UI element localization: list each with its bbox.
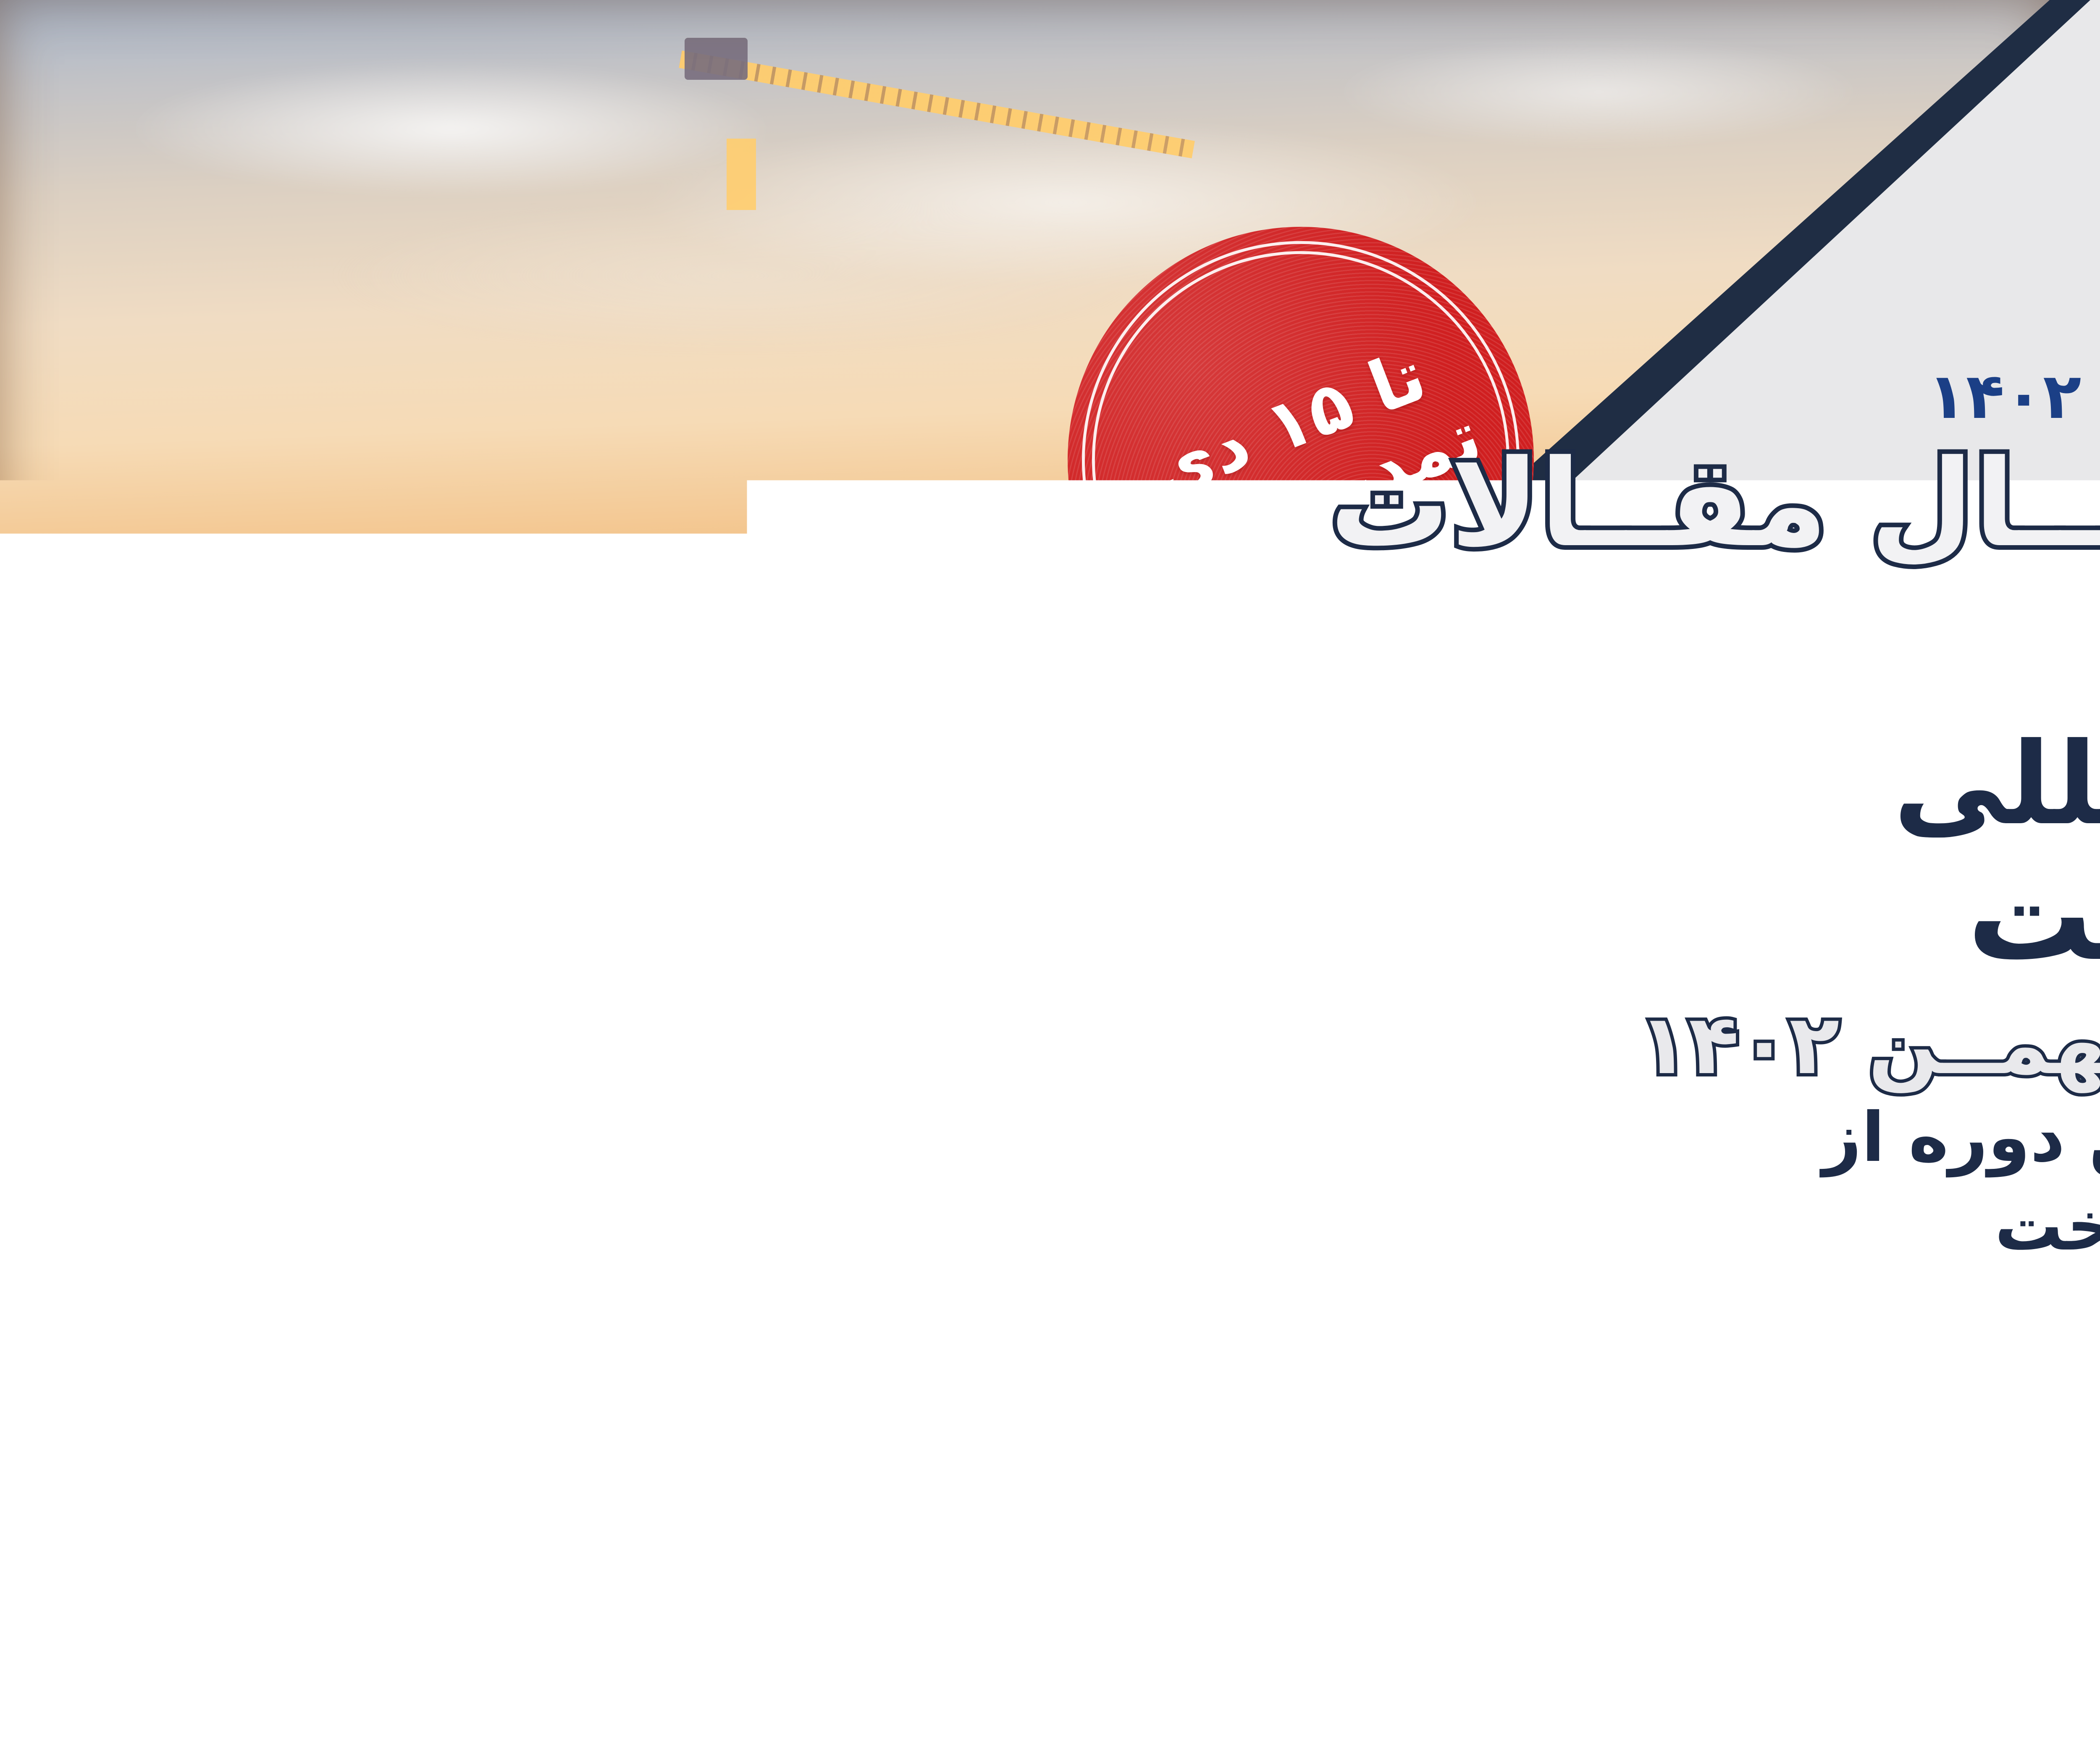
consulting-engineers-icon bbox=[0, 1310, 21, 1436]
tehran-chamber-of-commerce-icon bbox=[0, 1044, 28, 1170]
official-expert-org-icon bbox=[158, 1305, 280, 1422]
competition-note-line2: مسـابقات مـلی حقـوق ساخت bbox=[575, 1182, 2029, 1271]
conference-topic: حقـــوق ســاخت bbox=[575, 846, 2029, 985]
road-housing-research-center-icon bbox=[105, 1039, 210, 1165]
kn-toosi-icon bbox=[832, 1554, 928, 1667]
call-for-papers-title: فراخـــوان ارســال مقــالات bbox=[575, 439, 2029, 569]
headline-block: مهلت ارسال مقالات : ۳۰ آذر ۱۴۰۲ فراخـــو… bbox=[575, 361, 2029, 1270]
social-icons-row-top bbox=[1201, 1550, 1359, 1595]
sponsor-caption-2: K.N.TOOSI UNIVERSITY OF TECHNOLOGY bbox=[365, 1618, 801, 1642]
globe-cursor-icon bbox=[1915, 1544, 1978, 1607]
sponsor-row-3-universities: دانشگاه صنعتی خواجه نصیرالدین طوسی K.N.T… bbox=[0, 1529, 928, 1667]
sponsor-caption: اتاق بازرگانی bbox=[0, 1174, 14, 1192]
social-icons-row-bottom bbox=[1201, 1632, 1247, 1677]
competition-note-line1: همـراه با برگـزاری سـومین دوره از bbox=[575, 1094, 2029, 1182]
sponsor-tehran-chamber-of-commerce: اتاق بازرگانی صنایع، معادن و کشاورزی تهر… bbox=[0, 1044, 66, 1213]
sponsor-road-housing-research-center: مرکز تحقیقات راه مسکن و شهرسازی bbox=[71, 1039, 244, 1213]
sponsor-official-expert-organization-tehran: کانون کارشناسان رسمی دادگستری استان تهرا… bbox=[65, 1305, 374, 1478]
conference-ordinal: چهـــارمین bbox=[575, 569, 2029, 722]
twitter-icon[interactable] bbox=[1201, 1632, 1247, 1677]
submission-deadline: مهلت ارسال مقالات : ۳۰ آذر ۱۴۰۲ bbox=[575, 361, 2029, 432]
sponsor-kn-toosi-university: دانشگاه صنعتی خواجه نصیرالدین طوسی K.N.T… bbox=[346, 1554, 928, 1667]
sponsor-caption-2: راه مسکن و شهرسازی bbox=[71, 1193, 244, 1213]
conference-emblem-logo: International Construction Law Conferenc… bbox=[1659, 29, 1928, 298]
phone-icon bbox=[1915, 1628, 1978, 1691]
sponsor-caption-2: صنایع، معادن و کشاورزی تهران bbox=[0, 1197, 66, 1213]
telephone-number: ۰۲۱-۸۸۲۰۱۴۳۲ (۲۶۶) bbox=[1453, 1599, 1740, 1637]
sponsor-caption: کانون کارشناسان رسمی دادگستری استان تهرا… bbox=[65, 1426, 374, 1461]
sponsor-caption-2: Official Expert Organization , Tehran bbox=[90, 1461, 348, 1478]
conference-poster: ISC Islamic World Science Citation Cente… bbox=[0, 0, 2100, 1764]
sponsor-caption: مرکز تحقیقات bbox=[104, 1169, 211, 1189]
sponsor-caption: جامعه مهندسان مشاور ایران bbox=[0, 1440, 65, 1477]
mobile-number: ۰۹۲۱۹۷۵۴۴۵۶ bbox=[1458, 1646, 1647, 1683]
instagram-icon[interactable] bbox=[1201, 1550, 1247, 1595]
sponsor-row-2: کانون کارشناسان رسمی دادگستری استان تهرا… bbox=[0, 1285, 374, 1478]
contact-block: ICLConf www.ICLC.kntu.ac.ir ۰۲۱-۸۸۲۰۱۴۳۲… bbox=[1201, 1550, 2062, 1726]
website-url[interactable]: www.ICLC.kntu.ac.ir bbox=[1458, 1553, 1801, 1592]
sponsor-islamic-azad-university: دانشگاه آزاد اسلامی واحد علوم و تحقیقات bbox=[3, 1537, 268, 1667]
sponsor-iranian-association-of-consulting-engineers: جامعه مهندسان مشاور ایران bbox=[0, 1310, 65, 1477]
conference-name: کنفرانس بین‌المللی bbox=[575, 722, 2029, 846]
twitter-handle[interactable]: ICLConf bbox=[1260, 1643, 1386, 1679]
telegram-icon[interactable] bbox=[1257, 1550, 1303, 1595]
sponsor-caption: دانشگاه آزاد اسلامی واحد علوم و تحقیقات bbox=[3, 1651, 268, 1667]
linkedin-icon[interactable] bbox=[1314, 1550, 1359, 1595]
sponsor-row-1: مرکز تحقیقات راه مسکن و شهرسازی اتاق باز… bbox=[0, 1037, 244, 1213]
conference-dates: یازدهــم و دوازدهــم بهمــن ۱۴۰۲ bbox=[575, 997, 2029, 1094]
islamic-azad-university-icon bbox=[81, 1537, 190, 1646]
sponsor-caption: دانشگاه صنعتی خواجه نصیرالدین طوسی bbox=[346, 1583, 819, 1614]
